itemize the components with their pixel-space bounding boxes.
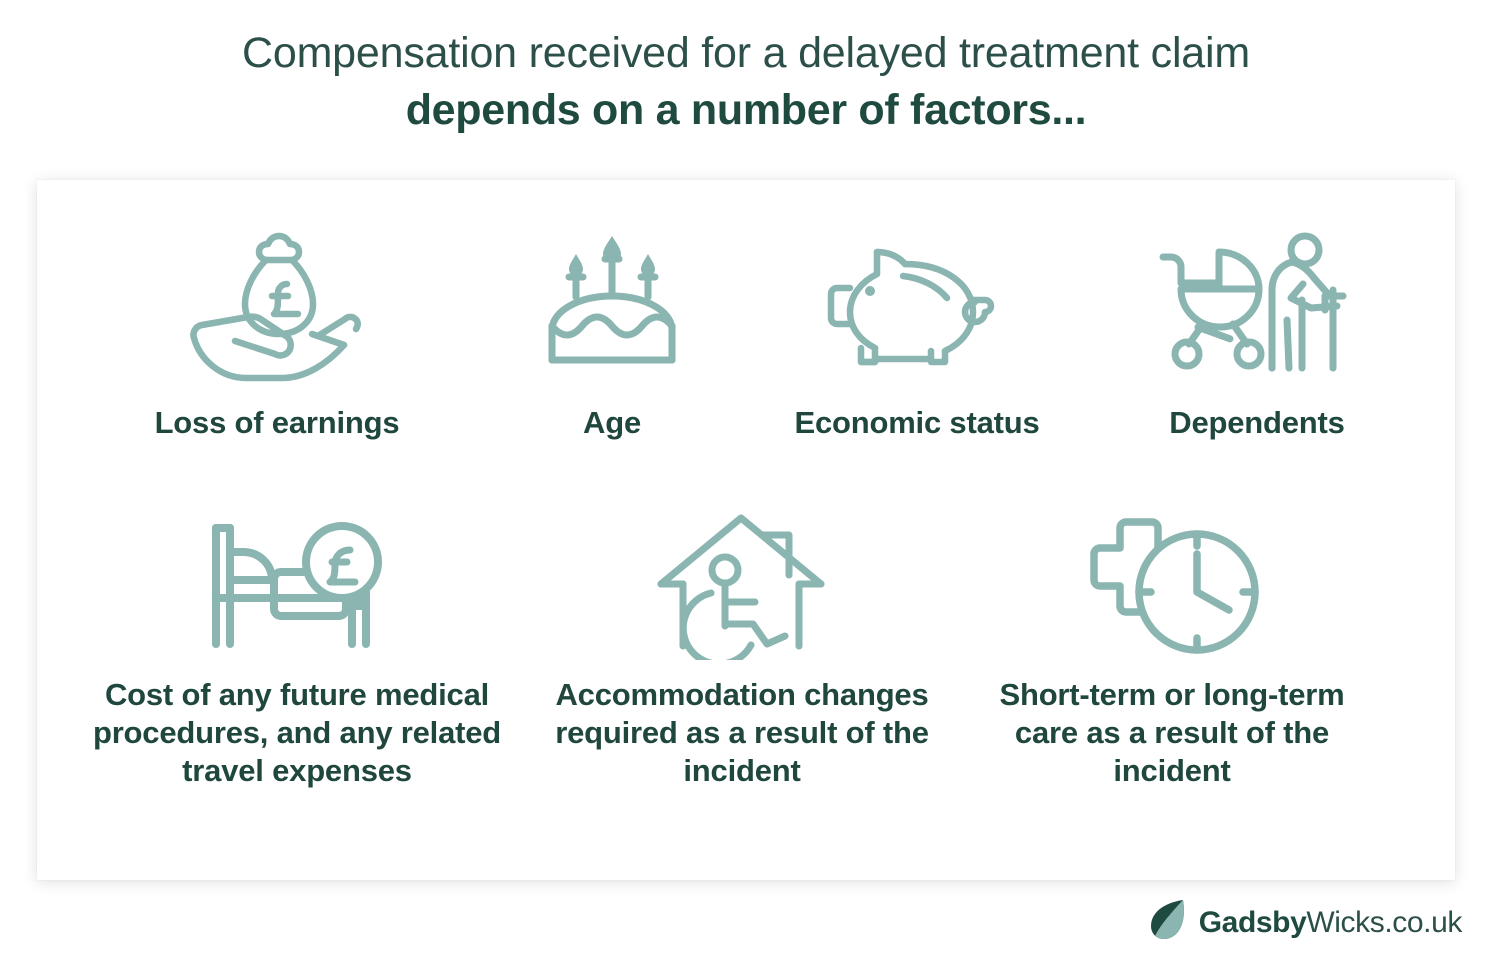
- factor-label: Dependents: [1169, 404, 1344, 442]
- birthday-cake-icon: [530, 228, 695, 388]
- piggy-bank-icon: [825, 228, 1010, 388]
- logo-brand-bold: Gadsby: [1199, 906, 1307, 939]
- factor-item-economic-status: Economic status: [752, 228, 1082, 442]
- medical-cross-and-clock-icon: [1082, 510, 1262, 660]
- pram-and-elderly-person-icon: [1157, 228, 1357, 388]
- page-title-line-1: Compensation received for a delayed trea…: [0, 28, 1492, 79]
- logo-brand-light: Wicks.co.uk: [1306, 906, 1462, 939]
- page-title: Compensation received for a delayed trea…: [0, 0, 1492, 135]
- factor-label: Accommodation changes required as a resu…: [542, 676, 942, 790]
- factors-card: Loss of earnings: [37, 180, 1455, 880]
- factor-item-accommodation: Accommodation changes required as a resu…: [542, 510, 942, 790]
- gadsbywicks-logo[interactable]: GadsbyWicks.co.uk: [1149, 897, 1462, 948]
- hospital-bed-with-pound-coin-icon: [202, 510, 392, 660]
- page-title-line-2: depends on a number of factors...: [0, 85, 1492, 136]
- factor-label: Age: [583, 404, 641, 442]
- factor-label: Loss of earnings: [155, 404, 400, 442]
- factor-label: Economic status: [794, 404, 1039, 442]
- factor-item-care: Short-term or long-term care as a result…: [972, 510, 1372, 790]
- factor-label: Short-term or long-term care as a result…: [972, 676, 1372, 790]
- house-with-wheelchair-accessibility-icon: [655, 510, 830, 660]
- leaf-icon: [1149, 897, 1189, 948]
- logo-text: GadsbyWicks.co.uk: [1199, 906, 1462, 940]
- factor-label: Cost of any future medical procedures, a…: [67, 676, 527, 790]
- factor-item-future-medical: Cost of any future medical procedures, a…: [67, 510, 527, 790]
- factor-item-loss-of-earnings: Loss of earnings: [77, 228, 477, 442]
- factor-item-dependents: Dependents: [1097, 228, 1417, 442]
- factor-item-age: Age: [467, 228, 757, 442]
- factors-grid: Loss of earnings: [37, 180, 1455, 880]
- hand-holding-money-bag-pound-icon: [180, 228, 375, 388]
